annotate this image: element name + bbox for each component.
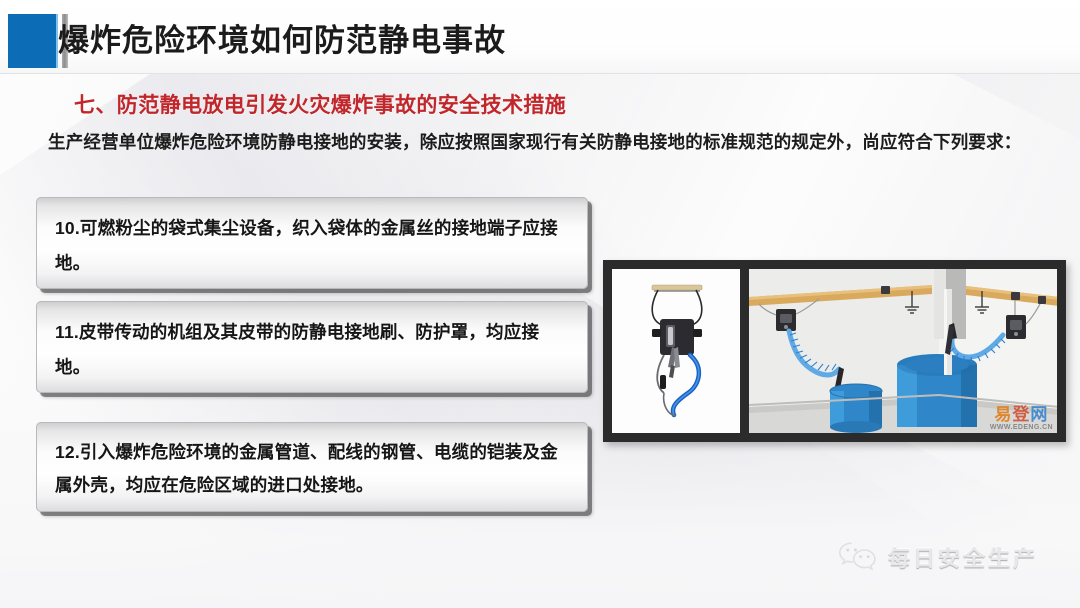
wechat-icon [838, 540, 878, 574]
slide-canvas: 爆炸危险环境如何防范静电事故 七、防范静电放电引发火灾爆炸事故的安全技术措施 生… [0, 0, 1080, 608]
image-watermark: 易登网 WWW.EDENG.CN [990, 406, 1053, 431]
list-item-text: 12.引入爆炸危险环境的金属管道、配线的钢管、电缆的铠装及金属外壳，均应在危险区… [55, 436, 571, 502]
footer-brand: 每日安全生产 [838, 540, 1038, 574]
list-item-text: 11.皮带传动的机组及其皮带的防静电接地刷、防护罩，均应接地。 [55, 315, 571, 385]
list-item: 12.引入爆炸危险环境的金属管道、配线的钢管、电缆的铠装及金属外壳，均应在危险区… [36, 422, 588, 512]
logo-square-icon [8, 14, 58, 68]
watermark-text: 易登网 [990, 406, 1053, 423]
illustration-panel-left [612, 269, 740, 433]
grounding-reel-device-icon [612, 269, 740, 433]
illustration-panel-right: 易登网 WWW.EDENG.CN [749, 269, 1057, 433]
list-item-text: 10.可燃粉尘的袋式集尘设备，织入袋体的金属丝的接地端子应接地。 [55, 211, 571, 281]
watermark-char-2: 登 [1012, 405, 1030, 424]
watermark-char-1: 易 [994, 405, 1012, 424]
header-divider [0, 73, 1080, 74]
intro-paragraph: 生产经营单位爆炸危险环境防静电接地的安装，除应按照国家现行有关防静电接地的标准规… [48, 127, 1060, 158]
illustration-frame: 易登网 WWW.EDENG.CN [603, 260, 1066, 442]
watermark-url: WWW.EDENG.CN [990, 424, 1053, 431]
footer-brand-text: 每日安全生产 [888, 541, 1038, 573]
page-title: 爆炸危险环境如何防范静电事故 [58, 15, 758, 67]
list-item: 10.可燃粉尘的袋式集尘设备，织入袋体的金属丝的接地端子应接地。 [36, 197, 588, 289]
watermark-char-3: 网 [1030, 405, 1048, 424]
list-item: 11.皮带传动的机组及其皮带的防静电接地刷、防护罩，均应接地。 [36, 301, 588, 393]
illustration-inner: 易登网 WWW.EDENG.CN [612, 269, 1057, 433]
section-heading: 七、防范静电放电引发火灾爆炸事故的安全技术措施 [74, 89, 566, 119]
